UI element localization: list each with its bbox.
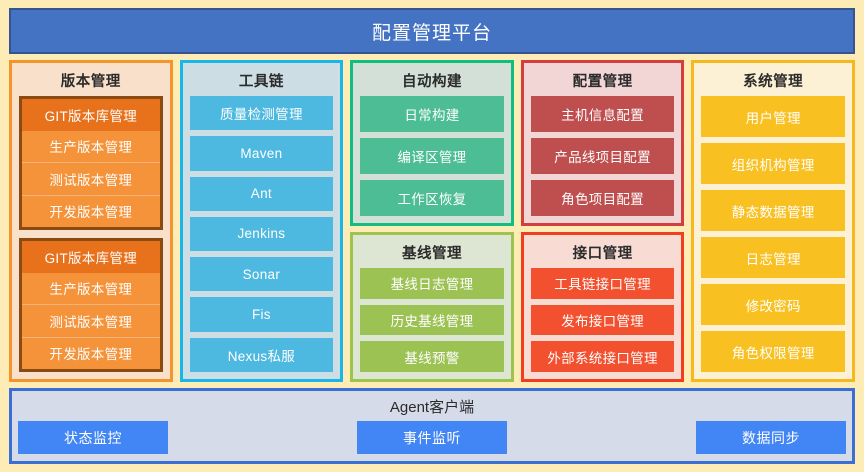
baseline-item-list: 基线日志管理 历史基线管理 基线预警	[360, 268, 504, 372]
item-git-repo-management[interactable]: GIT版本库管理	[22, 99, 160, 131]
auto-build-item-list: 日常构建 编译区管理 工作区恢复	[360, 96, 504, 216]
agent-button-data-sync[interactable]: 数据同步	[696, 421, 846, 454]
panel-title-config-management: 配置管理	[531, 67, 675, 96]
item-dev-version-management-2[interactable]: 开发版本管理	[22, 338, 160, 370]
item-release-interface-management[interactable]: 发布接口管理	[531, 305, 675, 336]
item-baseline-log-management[interactable]: 基线日志管理	[360, 268, 504, 299]
column-system-management: 系统管理 用户管理 组织机构管理 静态数据管理 日志管理 修改密码 角色权限管理	[691, 60, 855, 382]
agent-client-title: Agent客户端	[18, 394, 846, 421]
item-product-line-project-config[interactable]: 产品线项目配置	[531, 138, 675, 174]
item-dev-version-management[interactable]: 开发版本管理	[22, 196, 160, 228]
page-title: 配置管理平台	[372, 18, 492, 45]
item-external-system-interface-management[interactable]: 外部系统接口管理	[531, 341, 675, 372]
item-jenkins[interactable]: Jenkins	[190, 217, 334, 251]
panel-baseline-management: 基线管理 基线日志管理 历史基线管理 基线预警	[350, 232, 514, 382]
architecture-diagram: 配置管理平台 版本管理 GIT版本库管理 生产版本管理 测试版本管理 开发版本管…	[0, 0, 864, 472]
item-daily-build[interactable]: 日常构建	[360, 96, 504, 132]
interface-item-list: 工具链接口管理 发布接口管理 外部系统接口管理	[531, 268, 675, 372]
column-build-and-baseline: 自动构建 日常构建 编译区管理 工作区恢复 基线管理 基线日志管理 历史基线管理…	[350, 60, 514, 382]
agent-client-buttons: 状态监控 事件监听 数据同步	[18, 421, 846, 454]
agent-button-status-monitor[interactable]: 状态监控	[18, 421, 168, 454]
panel-interface-management: 接口管理 工具链接口管理 发布接口管理 外部系统接口管理	[521, 232, 685, 382]
version-group-1: GIT版本库管理 生产版本管理 测试版本管理 开发版本管理	[19, 96, 163, 230]
panel-title-baseline-management: 基线管理	[360, 239, 504, 268]
item-log-management[interactable]: 日志管理	[701, 237, 845, 278]
panel-title-system-management: 系统管理	[701, 67, 845, 96]
version-group-2: GIT版本库管理 生产版本管理 测试版本管理 开发版本管理	[19, 238, 163, 372]
item-test-version-management[interactable]: 测试版本管理	[22, 163, 160, 196]
column-toolchain: 工具链 质量检测管理 Maven Ant Jenkins Sonar Fis N…	[180, 60, 344, 382]
agent-client-bar: Agent客户端 状态监控 事件监听 数据同步	[9, 388, 855, 464]
platform-title-bar: 配置管理平台	[9, 8, 855, 54]
item-organization-management[interactable]: 组织机构管理	[701, 143, 845, 184]
item-ant[interactable]: Ant	[190, 177, 334, 211]
item-workspace-recovery[interactable]: 工作区恢复	[360, 180, 504, 216]
item-production-version-management-2[interactable]: 生产版本管理	[22, 273, 160, 306]
item-maven[interactable]: Maven	[190, 136, 334, 170]
system-item-list: 用户管理 组织机构管理 静态数据管理 日志管理 修改密码 角色权限管理	[701, 96, 845, 372]
panel-title-auto-build: 自动构建	[360, 67, 504, 96]
item-baseline-alert[interactable]: 基线预警	[360, 341, 504, 372]
item-role-permission-management[interactable]: 角色权限管理	[701, 331, 845, 372]
config-item-list: 主机信息配置 产品线项目配置 角色项目配置	[531, 96, 675, 216]
panel-toolchain: 工具链 质量检测管理 Maven Ant Jenkins Sonar Fis N…	[180, 60, 344, 382]
panel-config-management: 配置管理 主机信息配置 产品线项目配置 角色项目配置	[521, 60, 685, 226]
panel-system-management: 系统管理 用户管理 组织机构管理 静态数据管理 日志管理 修改密码 角色权限管理	[691, 60, 855, 382]
column-config-and-interface: 配置管理 主机信息配置 产品线项目配置 角色项目配置 接口管理 工具链接口管理 …	[521, 60, 685, 382]
item-git-repo-management-2[interactable]: GIT版本库管理	[22, 241, 160, 273]
item-compile-area-management[interactable]: 编译区管理	[360, 138, 504, 174]
panel-title-version-management: 版本管理	[19, 67, 163, 96]
item-role-project-config[interactable]: 角色项目配置	[531, 180, 675, 216]
item-fis[interactable]: Fis	[190, 297, 334, 331]
module-columns: 版本管理 GIT版本库管理 生产版本管理 测试版本管理 开发版本管理 GIT版本…	[9, 60, 855, 382]
column-version-management: 版本管理 GIT版本库管理 生产版本管理 测试版本管理 开发版本管理 GIT版本…	[9, 60, 173, 382]
item-host-info-config[interactable]: 主机信息配置	[531, 96, 675, 132]
item-test-version-management-2[interactable]: 测试版本管理	[22, 305, 160, 338]
item-toolchain-interface-management[interactable]: 工具链接口管理	[531, 268, 675, 299]
item-change-password[interactable]: 修改密码	[701, 284, 845, 325]
panel-title-interface-management: 接口管理	[531, 239, 675, 268]
item-historical-baseline-management[interactable]: 历史基线管理	[360, 305, 504, 336]
panel-title-toolchain: 工具链	[190, 67, 334, 96]
item-user-management[interactable]: 用户管理	[701, 96, 845, 137]
item-nexus-private-repo[interactable]: Nexus私服	[190, 338, 334, 372]
panel-auto-build: 自动构建 日常构建 编译区管理 工作区恢复	[350, 60, 514, 226]
item-quality-inspection-management[interactable]: 质量检测管理	[190, 96, 334, 130]
toolchain-item-list: 质量检测管理 Maven Ant Jenkins Sonar Fis Nexus…	[190, 96, 334, 372]
item-static-data-management[interactable]: 静态数据管理	[701, 190, 845, 231]
panel-version-management: 版本管理 GIT版本库管理 生产版本管理 测试版本管理 开发版本管理 GIT版本…	[9, 60, 173, 382]
item-production-version-management[interactable]: 生产版本管理	[22, 131, 160, 164]
item-sonar[interactable]: Sonar	[190, 257, 334, 291]
agent-button-event-listener[interactable]: 事件监听	[357, 421, 507, 454]
